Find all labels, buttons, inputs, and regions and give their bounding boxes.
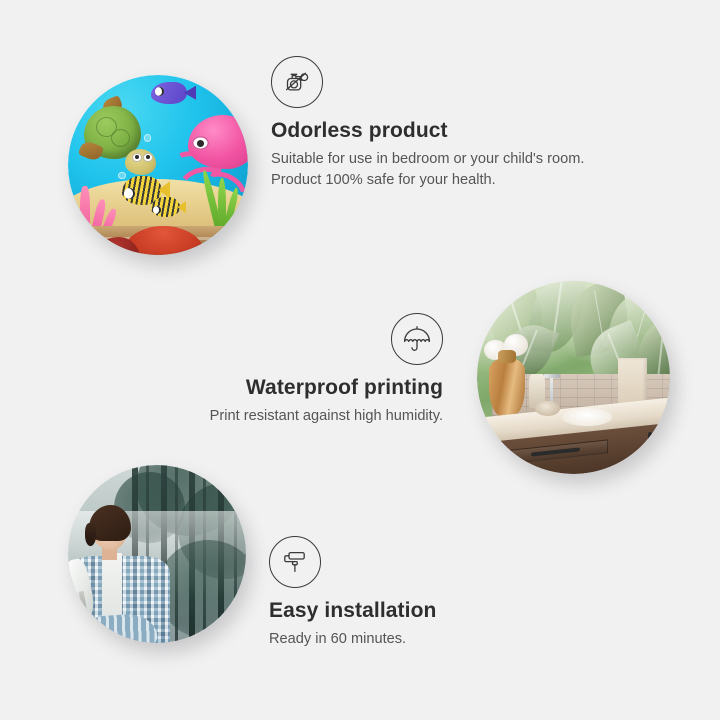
feature-easy-installation: Easy installation Ready in 60 minutes. <box>269 536 569 650</box>
feature-odorless: Odorless product Suitable for use in bed… <box>271 56 611 190</box>
feature-description: Ready in 60 minutes. <box>269 629 569 650</box>
feature-description: Suitable for use in bedroom or your chil… <box>271 149 611 190</box>
feature-description: Print resistant against high humidity. <box>143 406 443 427</box>
turtle-eye <box>132 153 142 162</box>
feature-title: Easy installation <box>269 599 569 623</box>
feature-waterproof: Waterproof printing Print resistant agai… <box>143 313 443 427</box>
paint-roller-icon <box>269 536 321 588</box>
woman-figure <box>68 508 175 643</box>
soap-dish <box>535 401 560 416</box>
feature-title: Waterproof printing <box>143 376 443 400</box>
bathroom-scene <box>477 281 670 474</box>
woman-paint-roller-forest-photo <box>68 465 246 643</box>
hair <box>89 505 131 541</box>
octopus-head <box>188 115 248 169</box>
turtle-head <box>125 149 157 175</box>
underwater-cartoon-mural-photo <box>68 75 248 255</box>
turtle-eye <box>143 153 153 162</box>
blue-fish-icon <box>151 82 187 104</box>
umbrella-icon <box>391 313 443 365</box>
drawer-handle <box>530 447 579 456</box>
octopus-eye <box>192 136 210 150</box>
door-handle <box>647 432 651 461</box>
seaweed-icon <box>208 169 237 230</box>
yellow-striped-fish-icon <box>151 197 180 217</box>
underwater-scene <box>68 75 248 255</box>
sink-basin <box>562 408 612 425</box>
no-odor-perfume-icon <box>271 56 323 108</box>
gold-vase <box>489 358 526 416</box>
feature-title: Odorless product <box>271 119 611 143</box>
forest-scene <box>68 465 246 643</box>
bathroom-tropical-wallpaper-photo <box>477 281 670 474</box>
sea-turtle-icon <box>79 106 158 178</box>
feature-infographic: Odorless product Suitable for use in bed… <box>0 0 720 720</box>
